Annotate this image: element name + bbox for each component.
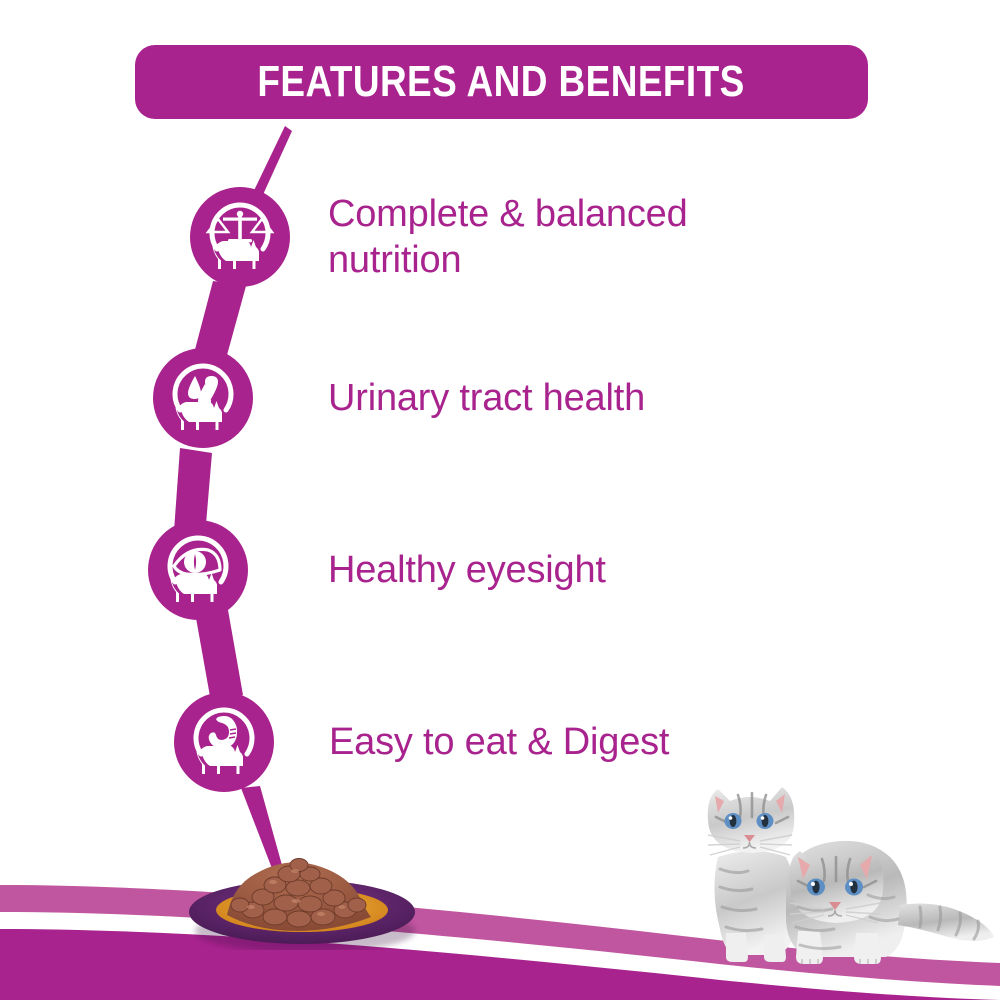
page-title: FEATURES AND BENEFITS: [258, 60, 745, 104]
feature-row: Easy to eat & Digest: [174, 692, 669, 792]
feature-label: Complete & balanced nutrition: [328, 191, 688, 284]
feature-row: Complete & balanced nutrition: [190, 187, 688, 287]
connector-bar-3: [196, 610, 243, 702]
two-grey-tabby-kittens-image: [690, 765, 1000, 975]
kitten-left: [708, 787, 797, 962]
promo-banner-canvas: FEATURES AND BENEFITS: [0, 0, 1000, 1000]
feature-row: Healthy eyesight: [148, 520, 606, 620]
feature-label: Easy to eat & Digest: [329, 719, 669, 765]
water-droplets-cat-icon: [153, 348, 253, 448]
features-and-benefits-banner: FEATURES AND BENEFITS: [135, 45, 868, 119]
balance-scale-cat-icon: [190, 187, 290, 287]
kitten-right: [786, 841, 994, 964]
stomach-cat-icon: [174, 692, 274, 792]
feature-label: Urinary tract health: [328, 375, 645, 421]
cat-eye-icon: [148, 520, 248, 620]
cat-food-bowl-image: [185, 855, 420, 950]
feature-row: Urinary tract health: [153, 348, 645, 448]
feature-label: Healthy eyesight: [328, 547, 606, 593]
